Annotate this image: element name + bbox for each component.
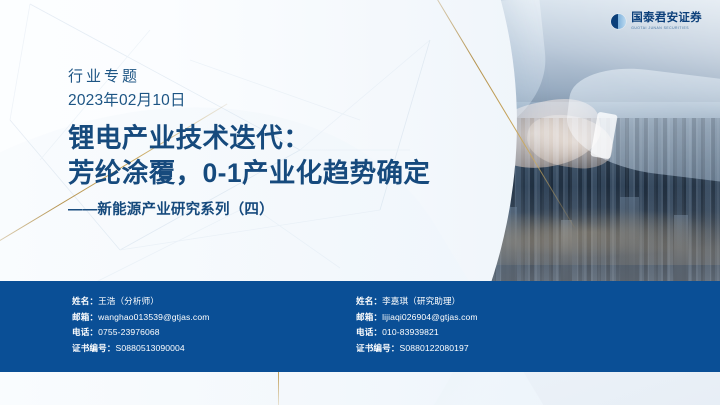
contact-block-assistant: 姓名：李嘉琪（研究助理） 邮箱：lijiaqi026904@gtjas.com …	[356, 294, 656, 372]
contact-phone-label: 电话：	[72, 327, 98, 337]
contact-email-label: 邮箱：	[356, 312, 382, 322]
contact-phone-row: 电话：0755-23976068	[72, 325, 352, 341]
report-subtitle: ——新能源产业研究系列（四）	[68, 198, 430, 219]
contact-cert-label: 证书编号：	[72, 343, 115, 353]
contact-phone-value: 0755-23976068	[98, 327, 160, 337]
contact-name-row: 姓名：王浩（分析师）	[72, 294, 352, 310]
cover-headline-block: 行业专题 2023年02月10日 锂电产业技术迭代： 芳纶涂覆，0-1产业化趋势…	[68, 66, 430, 219]
brand-name-cn: 国泰君安证券	[631, 13, 702, 25]
contact-phone-label: 电话：	[356, 327, 382, 337]
report-title-line-1: 锂电产业技术迭代：	[68, 121, 430, 156]
contact-footer-band: 姓名：王浩（分析师） 邮箱：wanghao013539@gtjas.com 电话…	[0, 281, 720, 372]
contact-cert-row: 证书编号：S0880122080197	[356, 341, 656, 357]
contact-name-row: 姓名：李嘉琪（研究助理）	[356, 294, 656, 310]
contact-cert-value: S0880122080197	[399, 343, 468, 353]
contact-cert-label: 证书编号：	[356, 343, 399, 353]
brand-logo: 国泰君安证券 GUOTAI JUNAN SECURITIES	[611, 13, 702, 30]
contact-cert-value: S0880513090004	[115, 343, 184, 353]
contact-name-label: 姓名：	[356, 296, 382, 306]
contact-phone-row: 电话：010-83939821	[356, 325, 656, 341]
contact-cert-row: 证书编号：S0880513090004	[72, 341, 352, 357]
contact-email-row: 邮箱：lijiaqi026904@gtjas.com	[356, 310, 656, 326]
report-category-kicker: 行业专题	[68, 66, 430, 88]
contact-phone-value: 010-83939821	[382, 327, 439, 337]
contact-email-value: lijiaqi026904@gtjas.com	[382, 312, 478, 322]
brand-name-en: GUOTAI JUNAN SECURITIES	[631, 27, 702, 31]
contact-email-label: 邮箱：	[72, 312, 98, 322]
report-date: 2023年02月10日	[68, 89, 430, 112]
contact-name-value: 李嘉琪（研究助理）	[382, 296, 460, 306]
contact-block-analyst: 姓名：王浩（分析师） 邮箱：wanghao013539@gtjas.com 电话…	[72, 294, 352, 372]
gold-accent-line-vertical	[278, 372, 279, 405]
contact-name-label: 姓名：	[72, 296, 98, 306]
contact-email-value: wanghao013539@gtjas.com	[98, 312, 209, 322]
report-cover-slide: 国泰君安证券 GUOTAI JUNAN SECURITIES 行业专题 2023…	[0, 0, 720, 405]
contact-email-row: 邮箱：wanghao013539@gtjas.com	[72, 310, 352, 326]
circle-split-logo-icon	[611, 14, 626, 29]
report-title-line-2: 芳纶涂覆，0-1产业化趋势确定	[68, 156, 430, 191]
brand-logo-text: 国泰君安证券 GUOTAI JUNAN SECURITIES	[631, 13, 702, 30]
contact-name-value: 王浩（分析师）	[98, 296, 159, 306]
